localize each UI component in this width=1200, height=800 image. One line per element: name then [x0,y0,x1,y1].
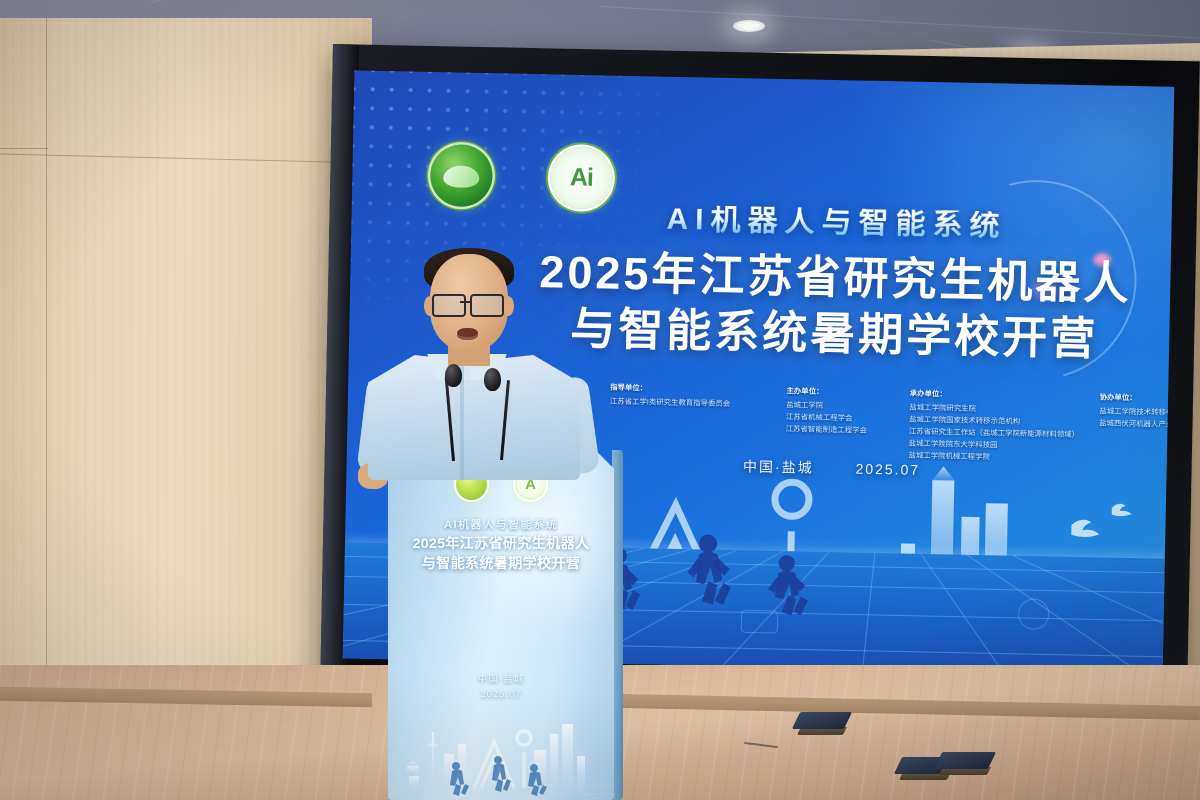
eyeglasses-icon [432,294,466,317]
ceiling-downlight [733,20,765,32]
eyeglasses-bridge [460,301,472,303]
speaker-mouth [457,328,478,340]
lectern-location: 中国·盐城 [388,672,614,687]
org-column-guidance: 指导单位： 江苏省工学I类研究生教育指导委员会 [609,382,731,458]
runner-icon [687,534,732,605]
floor-monitor-speaker [938,752,992,769]
speaker-person [352,250,608,480]
microphone-head[interactable] [484,368,501,391]
floor-monitor-speaker [796,712,848,729]
ai-emblem-logo: Ai [550,146,613,209]
conference-hall-photo: Ai AI机器人与智能系统 2025年江苏省研究生机器人 与智能系统暑期学校开营… [0,0,1200,800]
org-heading: 承办单位： [910,388,1080,403]
runner-icon [450,762,469,796]
org-heading: 主办单位： [786,385,868,399]
org-heading: 指导单位： [610,382,731,396]
microphone-head[interactable] [445,364,462,387]
ai-emblem-letters: Ai [570,163,594,192]
lectern-front-panel: AI机器人与智能系统 2025年江苏省研究生机器人 与智能系统暑期学校开营 中国… [388,436,614,800]
lectern-subtitle: AI机器人与智能系统 [388,516,614,532]
org-item: 盐城西伏河机器人产业园管理办 [1099,417,1174,431]
eyeglasses-icon [470,294,504,317]
lectern-title-line1: 2025年江苏省研究生机器人 [388,534,614,554]
org-heading: 协办单位： [1100,391,1175,405]
org-column-organizer: 承办单位： 盐城工学院研究生院 盐城工学院国家技术转移示范机构 江苏省研究生工作… [908,388,1079,465]
org-item: 江苏省智能制造工程学会 [786,423,868,437]
lectern-cityscape-svg [388,704,614,800]
lectern: AI机器人与智能系统 2025年江苏省研究生机器人 与智能系统暑期学校开营 中国… [388,436,614,800]
university-seal-logo [430,144,493,207]
lectern-cityscape-graphic [388,704,614,800]
lectern-title: 2025年江苏省研究生机器人 与智能系统暑期学校开营 [388,534,614,573]
org-column-host: 主办单位： 盐城工学院 江苏省机械工程学会 江苏省智能制造工程学会 [785,385,868,461]
org-column-coorganizer: 协办单位： 盐城工学院技术转移中心有限公司 盐城西伏河机器人产业园管理办 [1098,391,1174,467]
runner-icon [768,555,809,616]
lectern-date: 2025.07 [388,687,614,702]
lectern-place-date: 中国·盐城 2025.07 [388,672,614,702]
org-item: 江苏省工学I类研究生教育指导委员会 [610,396,731,410]
wall-panel-left [0,18,372,718]
lectern-title-line2: 与智能系统暑期学校开营 [388,554,614,574]
